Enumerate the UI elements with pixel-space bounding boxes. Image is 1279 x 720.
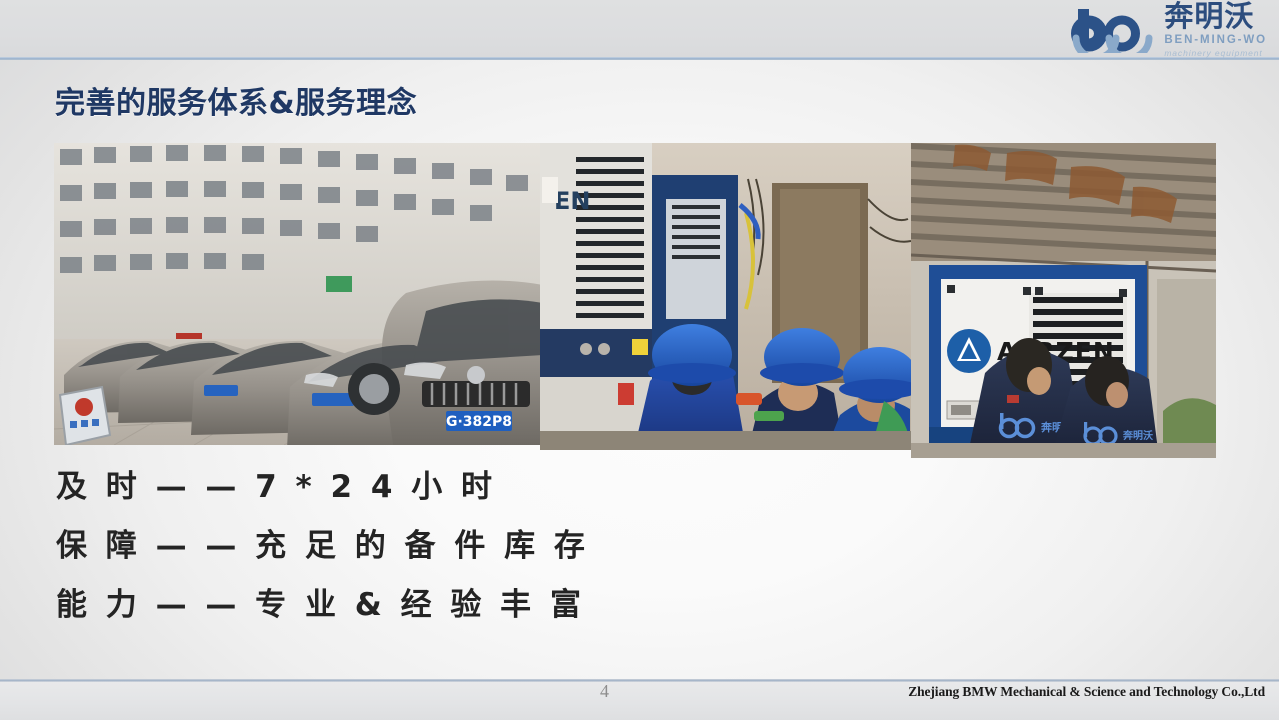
slide-canvas: 奔明沃 BEN-MING-WO machinery equipment 完善的服… bbox=[0, 0, 1279, 720]
svg-text:G·382P8: G·382P8 bbox=[446, 414, 512, 430]
page-title: 完善的服务体系&服务理念 bbox=[55, 78, 417, 122]
logo-wordmark: 奔明沃 BEN-MING-WO machinery equipment bbox=[1164, 2, 1267, 58]
photo-aerzen: AERZEN 奔明沃 bbox=[911, 143, 1216, 458]
company-logo: 奔明沃 BEN-MING-WO machinery equipment bbox=[1035, 4, 1267, 56]
body-text-block: 及 时 — — 7 * 2 4 小 时 保 障 — — 充 足 的 备 件 库 … bbox=[56, 472, 756, 649]
body-line-2: 保 障 — — 充 足 的 备 件 库 存 bbox=[56, 531, 756, 562]
svg-text:奔明沃: 奔明沃 bbox=[1122, 429, 1153, 442]
body-line-1: 及 时 — — 7 * 2 4 小 时 bbox=[56, 472, 756, 503]
logo-tagline: machinery equipment bbox=[1164, 48, 1262, 58]
photo-service: EN bbox=[540, 143, 911, 450]
bo-monogram-icon bbox=[1070, 7, 1162, 53]
header-divider bbox=[0, 57, 1279, 60]
logo-english-name: BEN-MING-WO bbox=[1164, 33, 1267, 47]
body-line-3: 能 力 — — 专 业 & 经 验 丰 富 bbox=[56, 590, 756, 621]
logo-chinese-name: 奔明沃 bbox=[1164, 2, 1254, 31]
svg-text:EN: EN bbox=[554, 187, 590, 215]
photo-cars: G·382P8 bbox=[54, 143, 543, 445]
page-number: 4 bbox=[600, 681, 609, 702]
footer-company-name: Zhejiang BMW Mechanical & Science and Te… bbox=[908, 684, 1265, 700]
